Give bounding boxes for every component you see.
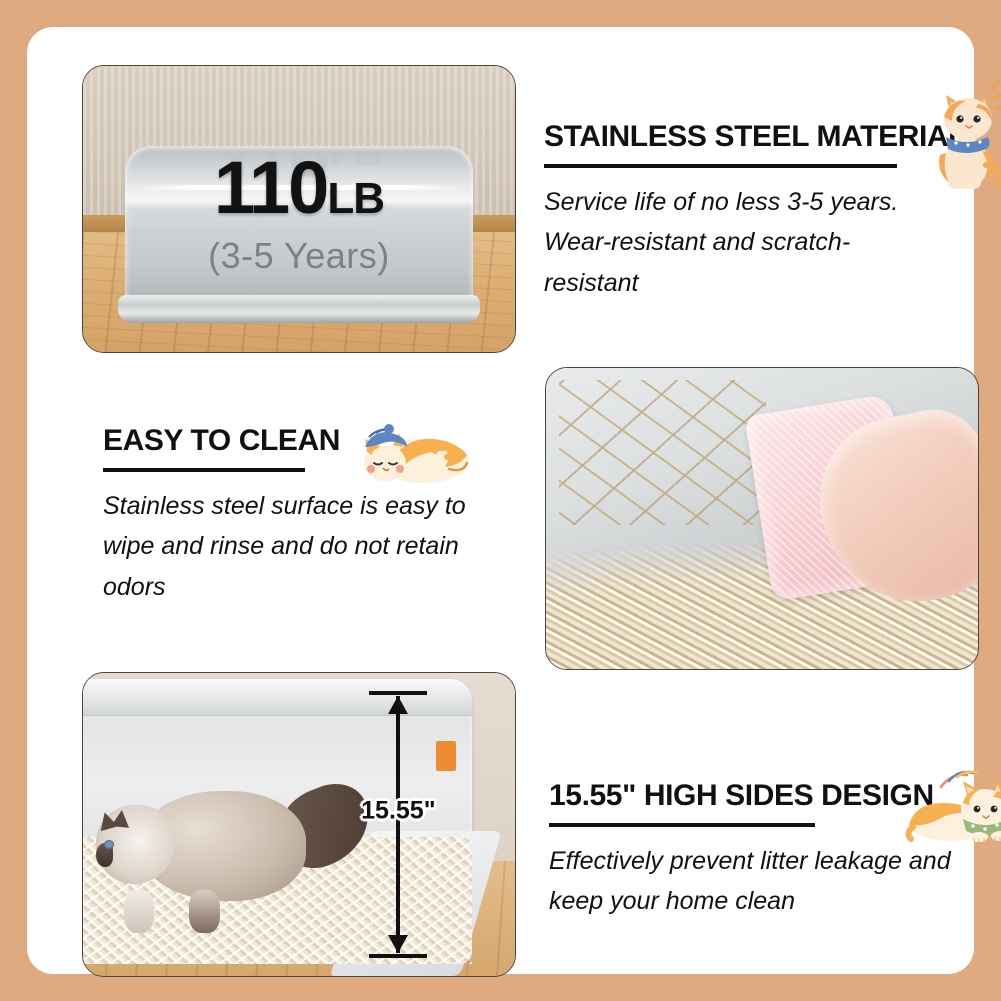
feature-title: EASY TO CLEAN <box>103 425 340 457</box>
dimension-cap-bottom <box>369 954 427 958</box>
feature-title: 15.55" HIGH SIDES DESIGN <box>549 780 934 812</box>
cat-exiting-litter-box-photo: 15.55" <box>82 672 516 977</box>
dimension-value-label: 15.55" <box>361 796 435 825</box>
dimension-cap-top <box>369 691 427 695</box>
feature-heading-row: STAINLESS STEEL MATERIAL <box>544 121 984 153</box>
feature-description: Stainless steel surface is easy to wipe … <box>103 486 493 608</box>
stainless-steel-box-weight-photo: 110LB 110LB (3-5 Years) <box>82 65 516 353</box>
weight-capacity-label: 110LB <box>118 151 481 225</box>
wiping-stainless-surface-photo <box>545 367 979 670</box>
feature-title: STAINLESS STEEL MATERIAL <box>544 121 966 153</box>
cat-hind-leg <box>189 890 219 934</box>
dimension-arrow-up-icon <box>388 696 408 714</box>
feature-underline <box>103 468 305 472</box>
dimension-arrow-down-icon <box>388 935 408 953</box>
service-years-label: (3-5 Years) <box>118 235 481 277</box>
weight-value: 110 <box>214 146 327 229</box>
height-dimension-annotation: 15.55" <box>364 685 433 964</box>
feature-underline <box>549 823 815 827</box>
feature-description: Effectively prevent litter leakage and k… <box>549 841 969 922</box>
lying-cat-icon <box>905 765 1001 851</box>
sitting-cat-icon <box>920 79 1001 191</box>
orange-latch <box>436 741 456 771</box>
sleeping-cat-icon <box>345 415 473 487</box>
infographic-card: 110LB 110LB (3-5 Years) STAINLESS STEEL … <box>27 27 974 974</box>
feature-stainless-steel-material: STAINLESS STEEL MATERIAL Service life of… <box>544 121 984 303</box>
feature-description: Service life of no less 3-5 years. Wear-… <box>544 182 944 304</box>
stainless-steel-litter-box: 110LB 110LB (3-5 Years) <box>118 146 481 323</box>
box-bottom-lip <box>118 295 481 323</box>
product-infographic: 110LB 110LB (3-5 Years) STAINLESS STEEL … <box>0 0 1001 1001</box>
feature-underline <box>544 164 897 168</box>
cat-front-leg <box>124 890 154 934</box>
ragdoll-cat <box>96 782 329 927</box>
cat-ear-right <box>111 809 131 828</box>
weight-unit: LB <box>327 174 384 223</box>
scattered-litter-crumbs <box>559 380 766 524</box>
